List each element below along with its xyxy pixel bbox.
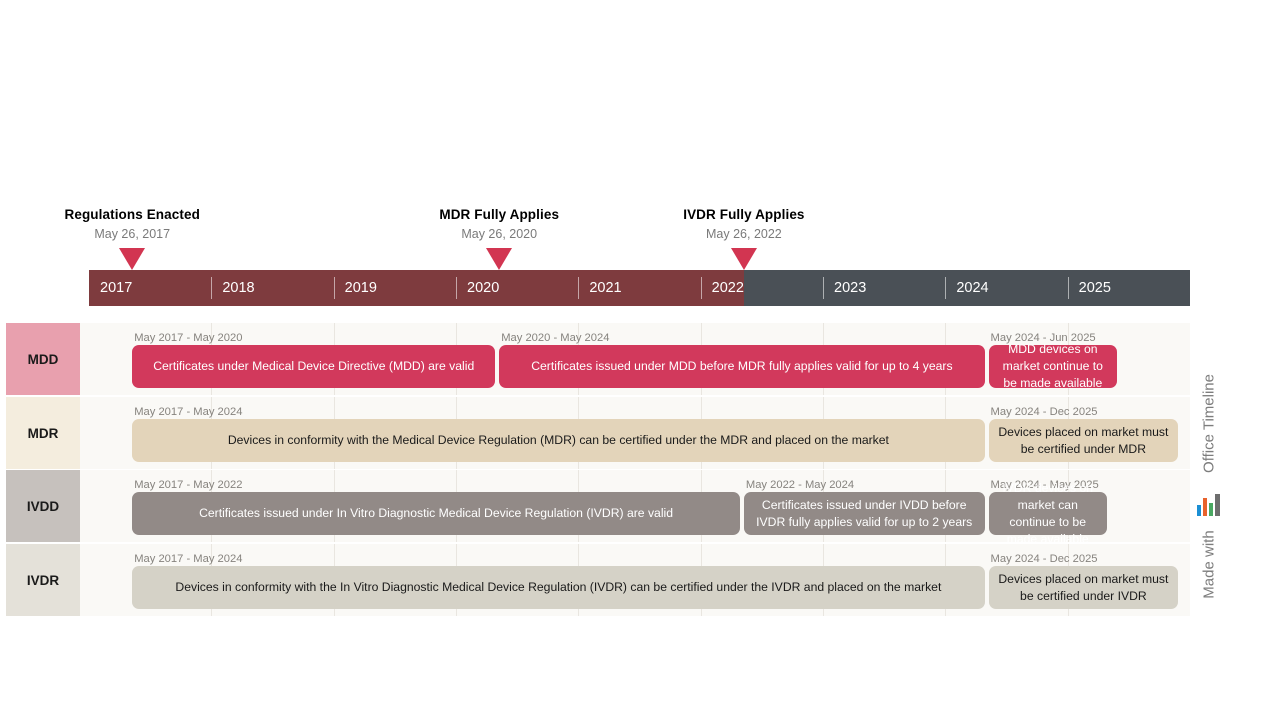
task-bar[interactable]: Devices placed on market must be certifi… xyxy=(989,419,1179,462)
axis-year-2019: 2019 xyxy=(334,270,456,306)
axis-year-2025: 2025 xyxy=(1068,270,1190,306)
axis-year-2020: 2020 xyxy=(456,270,578,306)
timeline-chart: Regulations EnactedMay 26, 2017MDR Fully… xyxy=(0,0,1280,720)
task-date-range: May 2024 - Dec 2025 xyxy=(991,406,1098,418)
milestone-3: IVDR Fully AppliesMay 26, 2022 xyxy=(634,207,854,241)
task-bar[interactable]: Certificates under Medical Device Direct… xyxy=(132,345,495,388)
milestone-1: Regulations EnactedMay 26, 2017 xyxy=(22,207,242,241)
milestone-date: May 26, 2017 xyxy=(22,227,242,241)
task-date-range: May 2022 - May 2024 xyxy=(746,479,854,491)
task-bar[interactable]: Devices in conformity with the In Vitro … xyxy=(132,566,984,609)
swimlane-ivdd: IVDDMay 2017 - May 2022Certificates issu… xyxy=(0,470,1280,542)
milestone-marker-triangle xyxy=(486,248,512,270)
swimlane-label-mdd[interactable]: MDD xyxy=(6,323,80,395)
brand-product-name: Office Timeline xyxy=(1201,374,1218,473)
milestone-title: IVDR Fully Applies xyxy=(634,207,854,222)
axis-year-2024: 2024 xyxy=(945,270,1067,306)
task-bar[interactable]: Certificates issued under In Vitro Diagn… xyxy=(132,492,740,535)
logo-bar-1 xyxy=(1197,505,1201,516)
task-bar[interactable]: Certificates issued under IVDD before IV… xyxy=(744,492,985,535)
logo-bar-2 xyxy=(1203,498,1207,516)
task-date-range: May 2024 - Dec 2025 xyxy=(991,553,1098,565)
swimlane-label-ivdr[interactable]: IVDR xyxy=(6,544,80,616)
task-bar[interactable]: Devices placed on market must be certifi… xyxy=(989,566,1179,609)
timeline-axis-bar: 201720182019202020212022202320242025 xyxy=(89,270,1190,306)
logo-bar-4 xyxy=(1215,494,1220,516)
task-date-range: May 2020 - May 2024 xyxy=(501,332,609,344)
task-date-range: May 2017 - May 2024 xyxy=(134,406,242,418)
swimlane-mdr: MDRMay 2017 - May 2024Devices in conform… xyxy=(0,397,1280,469)
milestone-title: Regulations Enacted xyxy=(22,207,242,222)
swimlane-ivdr: IVDRMay 2017 - May 2024Devices in confor… xyxy=(0,544,1280,616)
office-timeline-logo-icon xyxy=(1197,490,1221,516)
milestone-title: MDR Fully Applies xyxy=(389,207,609,222)
milestone-2: MDR Fully AppliesMay 26, 2020 xyxy=(389,207,609,241)
task-bar[interactable]: MDD devices on market continue to be mad… xyxy=(989,345,1118,388)
axis-year-2021: 2021 xyxy=(578,270,700,306)
swimlane-mdd: MDDMay 2017 - May 2020Certificates under… xyxy=(0,323,1280,395)
brand-made-with-label: Made with xyxy=(1201,530,1218,598)
milestone-date: May 26, 2022 xyxy=(634,227,854,241)
logo-bar-3 xyxy=(1209,503,1213,516)
axis-year-2023: 2023 xyxy=(823,270,945,306)
milestone-marker-triangle xyxy=(731,248,757,270)
axis-year-2022: 2022 xyxy=(701,270,823,306)
axis-year-2018: 2018 xyxy=(211,270,333,306)
task-date-range: May 2017 - May 2022 xyxy=(134,479,242,491)
task-bar[interactable]: Certificates issued under MDD before MDR… xyxy=(499,345,984,388)
swimlane-label-mdr[interactable]: MDR xyxy=(6,397,80,469)
task-bar[interactable]: IVDR devices on market can continue to b… xyxy=(989,492,1107,535)
milestone-date: May 26, 2020 xyxy=(389,227,609,241)
swimlane-label-ivdd[interactable]: IVDD xyxy=(6,470,80,542)
office-timeline-branding: Office Timeline Made with xyxy=(1196,360,1222,615)
task-bar[interactable]: Devices in conformity with the Medical D… xyxy=(132,419,984,462)
task-date-range: May 2017 - May 2024 xyxy=(134,553,242,565)
milestone-marker-triangle xyxy=(119,248,145,270)
task-date-range: May 2017 - May 2020 xyxy=(134,332,242,344)
axis-year-2017: 2017 xyxy=(89,270,211,306)
